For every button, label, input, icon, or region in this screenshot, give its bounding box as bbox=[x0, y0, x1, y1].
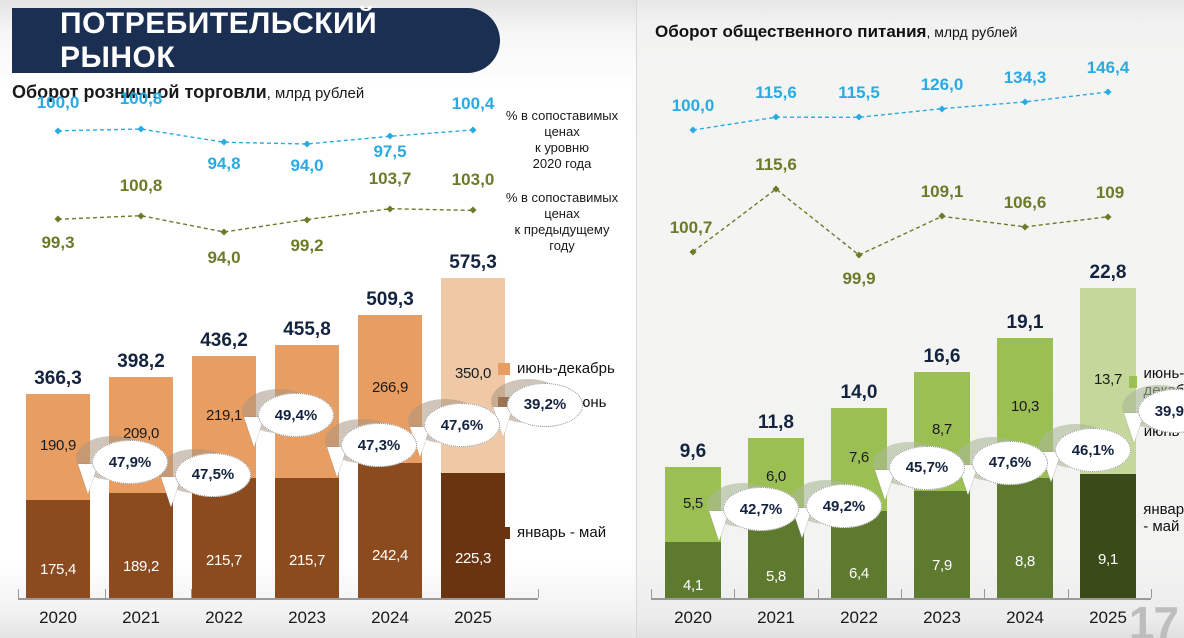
bar-segment-label-bottom: 4,1 bbox=[665, 577, 721, 594]
line-data-label: 94,0 bbox=[207, 248, 240, 268]
share-bubble: 49,2% bbox=[806, 484, 882, 528]
line-data-point bbox=[1104, 213, 1111, 220]
bar-segment-january-june bbox=[26, 500, 90, 598]
olive-series-note-left: % в сопоставимых ценах к предыдущему год… bbox=[498, 190, 626, 254]
catering-turnover-chart: 5,54,19,6202042,7%6,05,811,8202149,2%7,6… bbox=[637, 0, 1184, 638]
x-axis-tick bbox=[651, 589, 652, 598]
note-line: % в сопоставимых bbox=[498, 108, 626, 124]
line-data-label: 103,7 bbox=[369, 169, 412, 189]
x-axis-label: 2022 bbox=[824, 608, 894, 628]
bar-segment-january-june bbox=[358, 463, 422, 598]
line-data-label: 99,3 bbox=[41, 233, 74, 253]
legend-label: январь - май bbox=[517, 524, 606, 541]
left-panel: ПОТРЕБИТЕЛЬСКИЙ РЫНОК Оборот розничной т… bbox=[0, 0, 632, 638]
line-data-label: 103,0 bbox=[452, 170, 495, 190]
bar-segment-label-top: 266,9 bbox=[358, 379, 422, 396]
line-data-label: 134,3 bbox=[1004, 68, 1047, 88]
bar-segment-label-bottom: 225,3 bbox=[441, 550, 505, 567]
x-axis-label: 2021 bbox=[106, 608, 176, 628]
line-data-point bbox=[772, 186, 779, 193]
x-axis-tick bbox=[818, 589, 819, 598]
x-axis-label: 2025 bbox=[438, 608, 508, 628]
share-bubble: 39,2% bbox=[507, 383, 583, 427]
blue-series-note-left: % в сопоставимых ценах к уровню 2020 год… bbox=[498, 108, 626, 172]
x-axis-tick bbox=[18, 589, 19, 598]
line-data-point bbox=[1021, 223, 1028, 230]
bar-segment-label-bottom: 242,4 bbox=[358, 547, 422, 564]
bar-total-label: 11,8 bbox=[732, 412, 820, 434]
line-data-point bbox=[689, 248, 696, 255]
bar-total-label: 14,0 bbox=[815, 382, 903, 404]
line-data-label: 115,6 bbox=[755, 155, 797, 175]
line-data-label: 106,6 bbox=[1004, 193, 1047, 213]
x-axis-label: 2020 bbox=[658, 608, 728, 628]
line-data-point bbox=[855, 251, 862, 258]
x-axis-label: 2020 bbox=[23, 608, 93, 628]
legend-item-january-may-left: январь - май bbox=[498, 524, 606, 541]
x-axis-tick bbox=[901, 589, 902, 598]
bar-segment-january-june bbox=[997, 478, 1053, 598]
note-line: году bbox=[498, 238, 626, 254]
x-axis-label: 2023 bbox=[907, 608, 977, 628]
bar-segment-january-june bbox=[914, 491, 970, 598]
note-line: ценах bbox=[498, 124, 626, 140]
line-data-point bbox=[220, 139, 227, 146]
bar-segment-january-june bbox=[275, 478, 339, 598]
line-data-point bbox=[220, 228, 227, 235]
share-bubble: 47,6% bbox=[424, 403, 500, 447]
line-data-point bbox=[772, 114, 779, 121]
share-bubble: 47,6% bbox=[972, 441, 1048, 485]
bar-segment-label-top: 8,7 bbox=[914, 421, 970, 438]
bar-total-label: 575,3 bbox=[425, 252, 521, 274]
bar-segment-label-bottom: 9,1 bbox=[1080, 551, 1136, 568]
bar-total-label: 398,2 bbox=[93, 351, 189, 373]
line-data-point bbox=[938, 105, 945, 112]
line-data-point bbox=[1021, 98, 1028, 105]
line-data-label: 94,0 bbox=[290, 156, 323, 176]
line-data-point bbox=[303, 140, 310, 147]
x-axis-label: 2024 bbox=[355, 608, 425, 628]
share-bubble: 47,5% bbox=[175, 453, 251, 497]
line-data-label: 146,4 bbox=[1087, 58, 1130, 78]
line-data-label: 115,6 bbox=[755, 83, 797, 103]
bar-segment-label-bottom: 215,7 bbox=[192, 552, 256, 569]
legend-swatch-icon bbox=[1129, 512, 1136, 524]
line-data-point bbox=[386, 205, 393, 212]
line-data-point bbox=[54, 216, 61, 223]
x-axis-label: 2022 bbox=[189, 608, 259, 628]
line-data-point bbox=[1104, 88, 1111, 95]
bar-total-label: 16,6 bbox=[898, 346, 986, 368]
share-bubble: 46,1% bbox=[1055, 428, 1131, 472]
share-bubble: 49,4% bbox=[258, 393, 334, 437]
line-data-label: 109,1 bbox=[921, 182, 964, 202]
bar-segment-label-top: 350,0 bbox=[441, 365, 505, 382]
bar-segment-label-bottom: 175,4 bbox=[26, 561, 90, 578]
line-data-point bbox=[303, 216, 310, 223]
x-axis bbox=[651, 598, 1151, 600]
line-data-label: 115,5 bbox=[838, 83, 880, 103]
line-data-point bbox=[469, 207, 476, 214]
line-data-label: 126,0 bbox=[921, 75, 964, 95]
x-axis-label: 2023 bbox=[272, 608, 342, 628]
x-axis-tick bbox=[734, 589, 735, 598]
page-number: 17 bbox=[1129, 596, 1178, 638]
legend-label: июнь-декабрь bbox=[517, 360, 615, 377]
x-axis-tick bbox=[538, 589, 539, 598]
note-line: 2020 года bbox=[498, 156, 626, 172]
bar-segment-label-top: 13,7 bbox=[1080, 371, 1136, 388]
share-bubble: 45,7% bbox=[889, 446, 965, 490]
x-axis-label: 2024 bbox=[990, 608, 1060, 628]
legend-item-january-may-right: январь - май bbox=[1129, 501, 1184, 535]
line-data-point bbox=[469, 126, 476, 133]
line-data-point bbox=[137, 125, 144, 132]
line-data-label: 100,0 bbox=[37, 93, 80, 113]
note-line: к предыдущему bbox=[498, 222, 626, 238]
line-data-label: 94,8 bbox=[207, 154, 240, 174]
line-data-point bbox=[386, 133, 393, 140]
line-data-label: 100,4 bbox=[452, 94, 495, 114]
x-axis bbox=[18, 598, 538, 600]
bar-segment-label-bottom: 189,2 bbox=[109, 558, 173, 575]
share-bubble: 47,3% bbox=[341, 423, 417, 467]
note-line: % в сопоставимых bbox=[498, 190, 626, 206]
bar-segment-label-top: 6,0 bbox=[748, 468, 804, 485]
bar-total-label: 436,2 bbox=[176, 330, 272, 352]
legend-swatch-icon bbox=[498, 527, 510, 539]
bar-segment-january-june bbox=[1080, 474, 1136, 598]
bar-total-label: 9,6 bbox=[649, 441, 737, 463]
share-bubble: 42,7% bbox=[723, 487, 799, 531]
retail-turnover-chart: 190,9175,4366,3202047,9%209,0189,2398,22… bbox=[0, 0, 632, 638]
bar-segment-label-bottom: 6,4 bbox=[831, 565, 887, 582]
bar-total-label: 22,8 bbox=[1064, 262, 1152, 284]
bar-segment-label-bottom: 8,8 bbox=[997, 553, 1053, 570]
line-data-point bbox=[54, 127, 61, 134]
line-data-label: 99,9 bbox=[842, 269, 875, 289]
line-data-label: 99,2 bbox=[290, 236, 323, 256]
bar-total-label: 455,8 bbox=[259, 319, 355, 341]
bar-segment-january-june bbox=[109, 493, 173, 598]
legend-swatch-icon bbox=[1129, 376, 1137, 388]
line-data-label: 100,7 bbox=[670, 218, 713, 238]
line-data-label: 109 bbox=[1096, 183, 1124, 203]
note-line: ценах bbox=[498, 206, 626, 222]
bar-total-label: 509,3 bbox=[342, 289, 438, 311]
x-axis-label: 2021 bbox=[741, 608, 811, 628]
line-data-point bbox=[855, 114, 862, 121]
bar-segment-january-june bbox=[441, 473, 505, 598]
x-axis-tick bbox=[105, 589, 106, 598]
bar-segment-label-bottom: 5,8 bbox=[748, 568, 804, 585]
bar-total-label: 19,1 bbox=[981, 312, 1069, 334]
x-axis-tick bbox=[984, 589, 985, 598]
line-data-label: 97,5 bbox=[373, 142, 406, 162]
note-line: к уровню bbox=[498, 140, 626, 156]
bar-column: 190,9175,4 bbox=[26, 394, 90, 598]
line-data-point bbox=[938, 213, 945, 220]
bar-segment-label-bottom: 215,7 bbox=[275, 552, 339, 569]
legend-swatch-icon bbox=[498, 363, 510, 375]
legend-item-june-december-left: июнь-декабрь bbox=[498, 360, 615, 377]
line-data-label: 100,8 bbox=[120, 176, 163, 196]
bar-segment-label-bottom: 7,9 bbox=[914, 557, 970, 574]
line-data-label: 100,0 bbox=[672, 96, 715, 116]
bar-total-label: 366,3 bbox=[10, 368, 106, 390]
right-panel: Оборот общественного питания, млрд рубле… bbox=[636, 0, 1184, 638]
legend-label: январь - май bbox=[1143, 501, 1184, 535]
line-data-label: 100,8 bbox=[120, 89, 163, 109]
x-axis-tick bbox=[1068, 589, 1069, 598]
line-data-point bbox=[137, 212, 144, 219]
bar-segment-label-top: 10,3 bbox=[997, 398, 1053, 415]
line-data-point bbox=[689, 126, 696, 133]
